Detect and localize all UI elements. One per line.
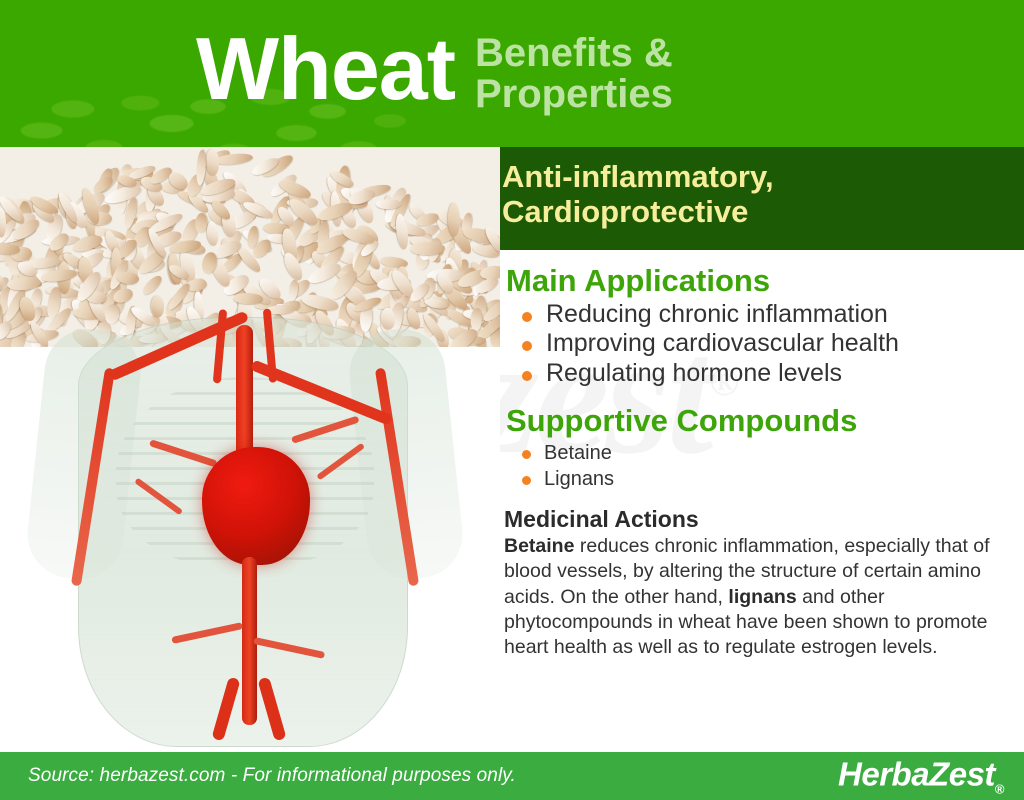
main-applications-heading: Main Applications — [506, 264, 1016, 298]
medicinal-actions-term-betaine: Betaine — [504, 535, 574, 557]
herbazest-logo-text: HerbaZest — [838, 756, 995, 793]
properties-banner-text: Anti-inflammatory, Cardioprotective — [502, 159, 1024, 230]
list-item: Betaine — [520, 440, 1016, 466]
registered-trademark-icon: ® — [995, 781, 1004, 796]
wheat-grain — [410, 242, 445, 255]
page-subtitle-line1: Benefits & — [475, 33, 673, 74]
footer-bar: Source: herbazest.com - For informationa… — [0, 752, 1024, 800]
medicinal-actions-paragraph: Betaine reduces chronic inflammation, es… — [504, 534, 996, 661]
footer-source-text: Source: herbazest.com - For informationa… — [28, 765, 516, 787]
list-item: Reducing chronic inflammation — [520, 300, 1016, 329]
cardiovascular-illustration — [30, 307, 460, 752]
header-banner: Wheat Benefits & Properties — [0, 0, 1024, 147]
infographic-page: Wheat Benefits & Properties Anti-inflamm… — [0, 0, 1024, 800]
properties-banner-line1: Anti-inflammatory, — [502, 159, 1024, 194]
list-item: Improving cardiovascular health — [520, 329, 1016, 358]
wheat-grain — [394, 213, 410, 250]
properties-banner: Anti-inflammatory, Cardioprotective — [480, 147, 1024, 250]
wheat-grain — [287, 279, 299, 301]
herbazest-logo: HerbaZest® — [838, 756, 1004, 797]
left-image-column — [0, 147, 500, 752]
wheat-grain — [140, 273, 164, 297]
page-subtitle-line2: Properties — [475, 74, 673, 115]
supportive-compounds-list: Betaine Lignans — [520, 440, 1016, 492]
main-applications-list: Reducing chronic inflammation Improving … — [520, 300, 1016, 388]
medicinal-actions-heading: Medicinal Actions — [504, 506, 1016, 533]
list-item: Lignans — [520, 466, 1016, 492]
page-subtitle: Benefits & Properties — [475, 33, 673, 115]
content-column: Main Applications Reducing chronic infla… — [480, 250, 1024, 752]
properties-banner-line2: Cardioprotective — [502, 194, 1024, 229]
page-title: Wheat — [196, 29, 455, 110]
medicinal-actions-term-lignans: lignans — [728, 586, 796, 608]
supportive-compounds-heading: Supportive Compounds — [506, 404, 1016, 438]
list-item: Regulating hormone levels — [520, 359, 1016, 388]
heart — [202, 447, 310, 565]
wheat-grain — [376, 199, 401, 209]
